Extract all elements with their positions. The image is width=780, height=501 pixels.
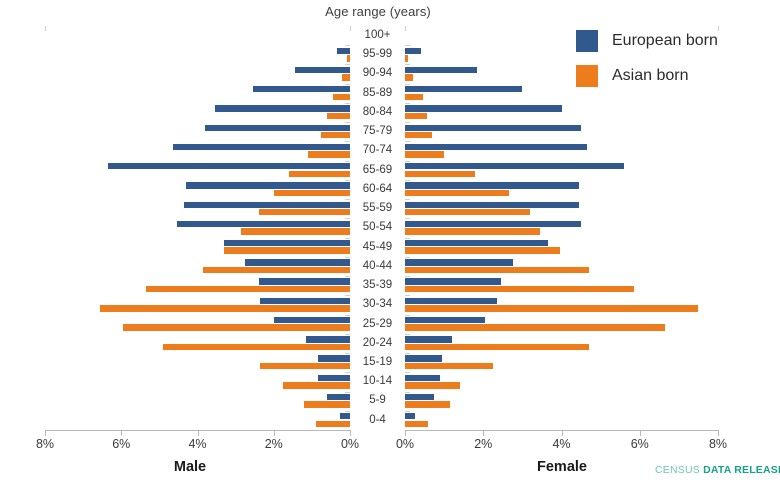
plot-top-marker [45,26,46,31]
pyramid-row [405,103,718,122]
male-tick-label-2: 2% [254,437,294,451]
category-separator [345,353,350,354]
bar-european-male-65-69[interactable] [108,163,350,169]
age-range-label: 10-14 [350,372,405,391]
category-separator [405,353,410,354]
category-separator [405,180,410,181]
pyramid-row [45,334,350,353]
axis-tick [483,431,484,436]
category-separator [345,372,350,373]
bar-european-male-85-89[interactable] [253,86,350,92]
category-separator [405,122,410,123]
age-range-label: 5-9 [350,391,405,410]
bar-european-male-55-59[interactable] [184,202,350,208]
bar-asian-male-45-49[interactable] [224,247,350,253]
pyramid-row [45,353,350,372]
pyramid-row [405,180,718,199]
bar-asian-female-70-74[interactable] [405,151,444,157]
bar-european-female-60-64[interactable] [405,182,579,188]
bar-asian-male-90-94[interactable] [342,74,350,80]
bar-asian-male-35-39[interactable] [146,286,350,292]
category-separator [405,84,410,85]
category-separator [345,64,350,65]
bar-asian-male-15-19[interactable] [260,363,350,369]
pyramid-row [45,26,350,45]
bar-european-female-90-94[interactable] [405,67,477,73]
category-separator [405,103,410,104]
pyramid-row [45,199,350,218]
category-separator [345,257,350,258]
category-separator [345,161,350,162]
bar-asian-female-30-34[interactable] [405,305,698,311]
bar-asian-female-0-4[interactable] [405,421,428,427]
axis-tick [562,431,563,436]
age-range-label: 35-39 [350,276,405,295]
bar-european-female-85-89[interactable] [405,86,522,92]
age-range-label: 0-4 [350,411,405,430]
age-range-label-column: 100+95-9990-9485-8980-8475-7970-7465-696… [350,26,405,430]
bar-european-male-50-54[interactable] [177,221,350,227]
bar-european-male-90-94[interactable] [295,67,350,73]
category-separator [405,276,410,277]
age-range-label: 80-84 [350,103,405,122]
bar-asian-male-0-4[interactable] [316,421,350,427]
bar-european-female-75-79[interactable] [405,125,581,131]
pyramid-row [45,257,350,276]
category-separator [345,295,350,296]
pyramid-row [45,276,350,295]
logo-text-data-release: DATA RELEASE [703,464,780,476]
category-separator [345,392,350,393]
bar-european-female-95-99[interactable] [405,48,421,54]
female-tick-label-6: 6% [620,437,660,451]
bar-european-female-0-4[interactable] [405,413,415,419]
bar-european-male-60-64[interactable] [186,182,350,188]
pyramid-row [405,276,718,295]
bar-asian-male-70-74[interactable] [308,151,350,157]
bar-asian-female-85-89[interactable] [405,94,423,100]
pyramid-row [45,218,350,237]
age-range-label: 95-99 [350,45,405,64]
category-separator [405,411,410,412]
bar-asian-female-45-49[interactable] [405,247,560,253]
pyramid-row [45,64,350,83]
logo-text-census: CENSUS [655,464,703,476]
category-separator [405,238,410,239]
pyramid-row [405,199,718,218]
bar-asian-female-90-94[interactable] [405,74,413,80]
age-range-label: 55-59 [350,199,405,218]
bar-asian-male-30-34[interactable] [100,305,350,311]
bar-european-female-30-34[interactable] [405,298,497,304]
age-range-label: 90-94 [350,64,405,83]
pyramid-row [405,122,718,141]
age-range-label: 45-49 [350,238,405,257]
age-range-label: 20-24 [350,334,405,353]
category-separator [345,238,350,239]
age-range-label: 15-19 [350,353,405,372]
bar-european-male-35-39[interactable] [259,278,351,284]
bar-asian-male-20-24[interactable] [163,344,350,350]
bar-european-male-95-99[interactable] [337,48,350,54]
legend-item-asian-born[interactable]: Asian born [576,65,718,87]
pyramid-row [405,218,718,237]
bar-european-female-25-29[interactable] [405,317,485,323]
legend-swatch-icon-asian [576,65,598,87]
age-range-label: 65-69 [350,161,405,180]
category-separator [405,392,410,393]
bar-european-male-25-29[interactable] [274,317,350,323]
bar-asian-female-10-14[interactable] [405,382,460,388]
bar-european-male-75-79[interactable] [205,125,350,131]
plot-top-marker [405,26,406,31]
legend-label-asian: Asian born [612,67,689,85]
category-separator [345,411,350,412]
bar-asian-female-50-54[interactable] [405,228,540,234]
category-separator [405,257,410,258]
chart-legend: European born Asian born [576,30,718,100]
bar-asian-male-80-84[interactable] [327,113,350,119]
bar-asian-male-85-89[interactable] [333,94,350,100]
female-tick-label-2: 2% [463,437,503,451]
bar-european-female-15-19[interactable] [405,355,442,361]
plot-top-marker [718,26,719,31]
age-range-label: 75-79 [350,122,405,141]
axis-tick [350,431,351,436]
category-separator [345,122,350,123]
bar-asian-female-15-19[interactable] [405,363,493,369]
category-separator [405,295,410,296]
pyramid-row [45,161,350,180]
bar-european-female-50-54[interactable] [405,221,581,227]
pyramid-row [45,103,350,122]
category-separator [345,141,350,142]
axis-tick [45,431,46,436]
bar-european-female-10-14[interactable] [405,375,440,381]
bar-european-female-20-24[interactable] [405,336,452,342]
bar-european-male-5-9[interactable] [327,394,350,400]
female-tick-label-4: 4% [542,437,582,451]
bar-asian-female-5-9[interactable] [405,401,450,407]
age-range-label: 50-54 [350,218,405,237]
bar-european-female-55-59[interactable] [405,202,579,208]
category-separator [345,218,350,219]
bar-european-male-45-49[interactable] [224,240,350,246]
pyramid-row [405,411,718,430]
bar-asian-male-50-54[interactable] [241,228,350,234]
category-separator [405,199,410,200]
legend-item-european-born[interactable]: European born [576,30,718,52]
axis-tick [640,431,641,436]
category-separator [405,64,410,65]
axis-tick [274,431,275,436]
male-tick-label-0: 0% [330,437,370,451]
pyramid-row [45,45,350,64]
bar-asian-male-25-29[interactable] [123,324,350,330]
pyramid-row [45,180,350,199]
pyramid-row [45,238,350,257]
pyramid-row [45,122,350,141]
category-separator [345,45,350,46]
bar-european-male-0-4[interactable] [340,413,350,419]
axis-tick [405,431,406,436]
bar-asian-female-80-84[interactable] [405,113,427,119]
age-range-label: 25-29 [350,315,405,334]
bar-european-male-20-24[interactable] [306,336,350,342]
bar-asian-female-75-79[interactable] [405,132,432,138]
bar-asian-male-55-59[interactable] [259,209,351,215]
pyramid-row [405,353,718,372]
bar-asian-female-60-64[interactable] [405,190,509,196]
pyramid-row [405,315,718,334]
bar-asian-female-40-44[interactable] [405,267,589,273]
pyramid-row [405,161,718,180]
bar-european-female-70-74[interactable] [405,144,587,150]
pyramid-row [405,391,718,410]
pyramid-row [45,411,350,430]
male-plot-panel [45,26,350,430]
male-tick-label-8: 8% [25,437,65,451]
pyramid-row [405,257,718,276]
pyramid-row [405,295,718,314]
pyramid-row [45,141,350,160]
bar-european-female-80-84[interactable] [405,105,562,111]
population-pyramid-chart: Age range (years) 100+95-9990-9485-8980-… [0,0,780,501]
bar-european-male-80-84[interactable] [215,105,350,111]
bar-european-female-45-49[interactable] [405,240,548,246]
census-data-release-logo: CENSUS DATA RELEASE [655,464,780,476]
age-range-label: 85-89 [350,84,405,103]
category-separator [405,315,410,316]
bar-european-male-30-34[interactable] [260,298,350,304]
age-range-label: 30-34 [350,295,405,314]
bar-european-male-40-44[interactable] [245,259,350,265]
legend-swatch-icon-european [576,30,598,52]
category-separator [405,372,410,373]
bar-european-male-70-74[interactable] [173,144,350,150]
pyramid-row [45,391,350,410]
bar-asian-female-95-99[interactable] [405,55,408,61]
bar-european-female-40-44[interactable] [405,259,513,265]
age-range-label: 60-64 [350,180,405,199]
female-axis-label: Female [482,459,642,475]
bar-european-male-15-19[interactable] [318,355,350,361]
axis-tick [198,431,199,436]
chart-title: Age range (years) [268,4,488,19]
pyramid-row [45,295,350,314]
bar-european-female-35-39[interactable] [405,278,501,284]
male-axis-label: Male [110,459,270,475]
category-separator [405,45,410,46]
bar-asian-female-65-69[interactable] [405,171,475,177]
pyramid-row [405,238,718,257]
pyramid-row [45,315,350,334]
category-separator [345,315,350,316]
bar-asian-male-5-9[interactable] [304,401,350,407]
bar-asian-female-25-29[interactable] [405,324,665,330]
category-separator [405,161,410,162]
pyramid-row [405,141,718,160]
bar-asian-male-65-69[interactable] [289,171,350,177]
category-separator [405,218,410,219]
age-range-label: 70-74 [350,141,405,160]
pyramid-row [405,372,718,391]
category-separator [345,276,350,277]
male-tick-label-6: 6% [101,437,141,451]
bar-asian-female-35-39[interactable] [405,286,634,292]
category-separator [345,180,350,181]
age-range-label: 100+ [350,26,405,45]
category-separator [405,334,410,335]
bar-european-male-10-14[interactable] [318,375,350,381]
pyramid-row [45,84,350,103]
male-tick-label-4: 4% [178,437,218,451]
bar-european-female-65-69[interactable] [405,163,624,169]
age-range-label: 40-44 [350,257,405,276]
category-separator [345,334,350,335]
bar-asian-female-20-24[interactable] [405,344,589,350]
category-separator [345,84,350,85]
category-separator [405,141,410,142]
pyramid-row [45,372,350,391]
plot-top-marker [350,26,351,31]
bar-asian-male-75-79[interactable] [321,132,350,138]
bar-asian-male-60-64[interactable] [274,190,350,196]
bar-asian-male-40-44[interactable] [203,267,350,273]
bar-european-female-5-9[interactable] [405,394,434,400]
category-separator [345,103,350,104]
pyramid-row [405,334,718,353]
axis-tick [121,431,122,436]
female-tick-label-8: 8% [698,437,738,451]
bar-asian-male-10-14[interactable] [283,382,350,388]
female-tick-label-0: 0% [385,437,425,451]
category-separator [345,199,350,200]
bar-asian-female-55-59[interactable] [405,209,530,215]
axis-tick [718,431,719,436]
legend-label-european: European born [612,32,718,50]
